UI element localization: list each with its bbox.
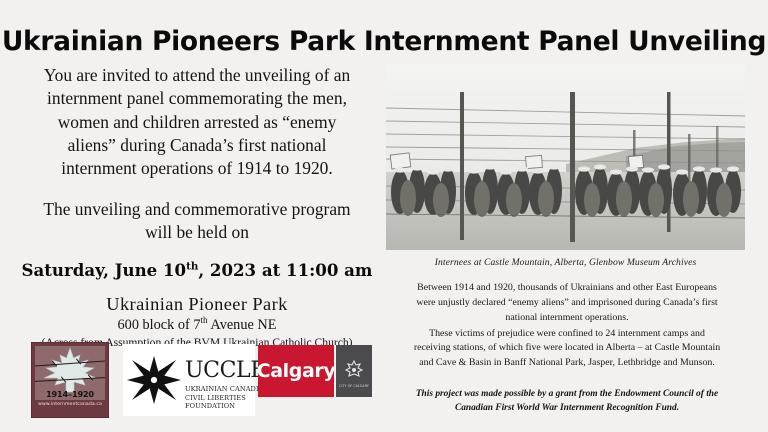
ucclf-name-line-2: CIVIL LIBERTIES <box>185 394 269 403</box>
history-p2-line-1: These victims of prejudice were confined… <box>386 327 748 342</box>
invitation-line-5: internment operations of 1914 to 1920. <box>18 157 376 180</box>
internee-photograph <box>386 64 745 250</box>
invitation-line-3: women and children arrested as “enemy <box>18 111 376 134</box>
page-title: Ukrainian Pioneers Park Internment Panel… <box>0 26 768 57</box>
event-date-time: Saturday, June 10th, 2023 at 11:00 am <box>18 260 376 280</box>
city-of-calgary-logo: Calgary CITY OF CALGARY <box>258 345 372 397</box>
program-paragraph: The unveiling and commemorative program … <box>18 198 376 244</box>
invitation-line-1: You are invited to attend the unveiling … <box>18 64 376 87</box>
internment-years-label: 1914–1920 <box>35 389 105 399</box>
venue-name: Ukrainian Pioneer Park <box>18 294 376 315</box>
venue-street: 600 block of 7th Avenue NE <box>18 317 376 334</box>
photo-caption: Internees at Castle Mountain, Alberta, G… <box>386 257 745 268</box>
invitation-line-4: aliens” during Canada’s first national <box>18 134 376 157</box>
invitation-paragraph: You are invited to attend the unveiling … <box>18 64 376 181</box>
maple-leaf-icon <box>38 347 102 393</box>
calgary-wordmark: Calgary <box>257 360 336 382</box>
historic-photo-graphic <box>386 64 745 250</box>
event-date-prefix: Saturday, June 10 <box>22 260 187 280</box>
history-p1-line-2: were unjustly declared “enemy aliens” an… <box>386 296 748 311</box>
history-p1-line-1: Between 1914 and 1920, thousands of Ukra… <box>386 281 748 296</box>
calgary-crest-panel: CITY OF CALGARY <box>336 345 372 397</box>
venue-street-ordinal: th <box>201 315 208 325</box>
ucclf-name-line-1: UKRAINIAN CANADIAN <box>185 385 269 394</box>
event-date-ordinal: th <box>186 260 198 272</box>
program-line-2: will be held on <box>18 221 376 244</box>
invitation-column: You are invited to attend the unveiling … <box>18 64 376 368</box>
ucclf-full-name: UKRAINIAN CANADIAN CIVIL LIBERTIES FOUND… <box>185 385 269 411</box>
ucclf-logo: UCCLF UKRAINIAN CANADIAN CIVIL LIBERTIES… <box>123 344 255 416</box>
program-line-1: The unveiling and commemorative program <box>18 198 376 221</box>
sponsor-logo-row: 1914–1920 www.internmentcanada.ca <box>18 340 376 422</box>
history-p1-line-3: national internment operations. <box>386 311 748 326</box>
poster-canvas: Ukrainian Pioneers Park Internment Panel… <box>0 0 768 432</box>
internment-canada-logo: 1914–1920 www.internmentcanada.ca <box>31 342 109 418</box>
funding-line-2: Canadian First World War Internment Reco… <box>386 401 748 415</box>
eight-pointed-star-icon <box>127 356 181 404</box>
calgary-crest-label: CITY OF CALGARY <box>336 384 372 388</box>
history-p2-line-2: receiving stations, of which five were l… <box>386 341 748 356</box>
venue-street-suffix: Avenue NE <box>208 317 277 333</box>
history-paragraph-2: These victims of prejudice were confined… <box>386 327 748 372</box>
venue-street-prefix: 600 block of 7 <box>118 317 201 333</box>
history-paragraph-1: Between 1914 and 1920, thousands of Ukra… <box>386 281 748 326</box>
maple-leaf-barbed-wire-graphic: 1914–1920 <box>35 346 105 400</box>
funding-acknowledgement: This project was made possible by a gran… <box>386 387 748 415</box>
event-date-suffix: , 2023 at 11:00 am <box>198 260 372 280</box>
internment-canada-url: www.internmentcanada.ca <box>35 402 105 407</box>
photo-and-history-column: Internees at Castle Mountain, Alberta, G… <box>386 64 750 415</box>
funding-line-1: This project was made possible by a gran… <box>386 387 748 401</box>
calgary-crest-icon <box>343 359 365 383</box>
ucclf-name-line-3: FOUNDATION <box>185 402 269 411</box>
calgary-wordmark-panel: Calgary <box>258 345 334 397</box>
invitation-line-2: internment panel commemorating the men, <box>18 87 376 110</box>
history-p2-line-3: and Cave & Basin in Banff National Park,… <box>386 356 748 371</box>
